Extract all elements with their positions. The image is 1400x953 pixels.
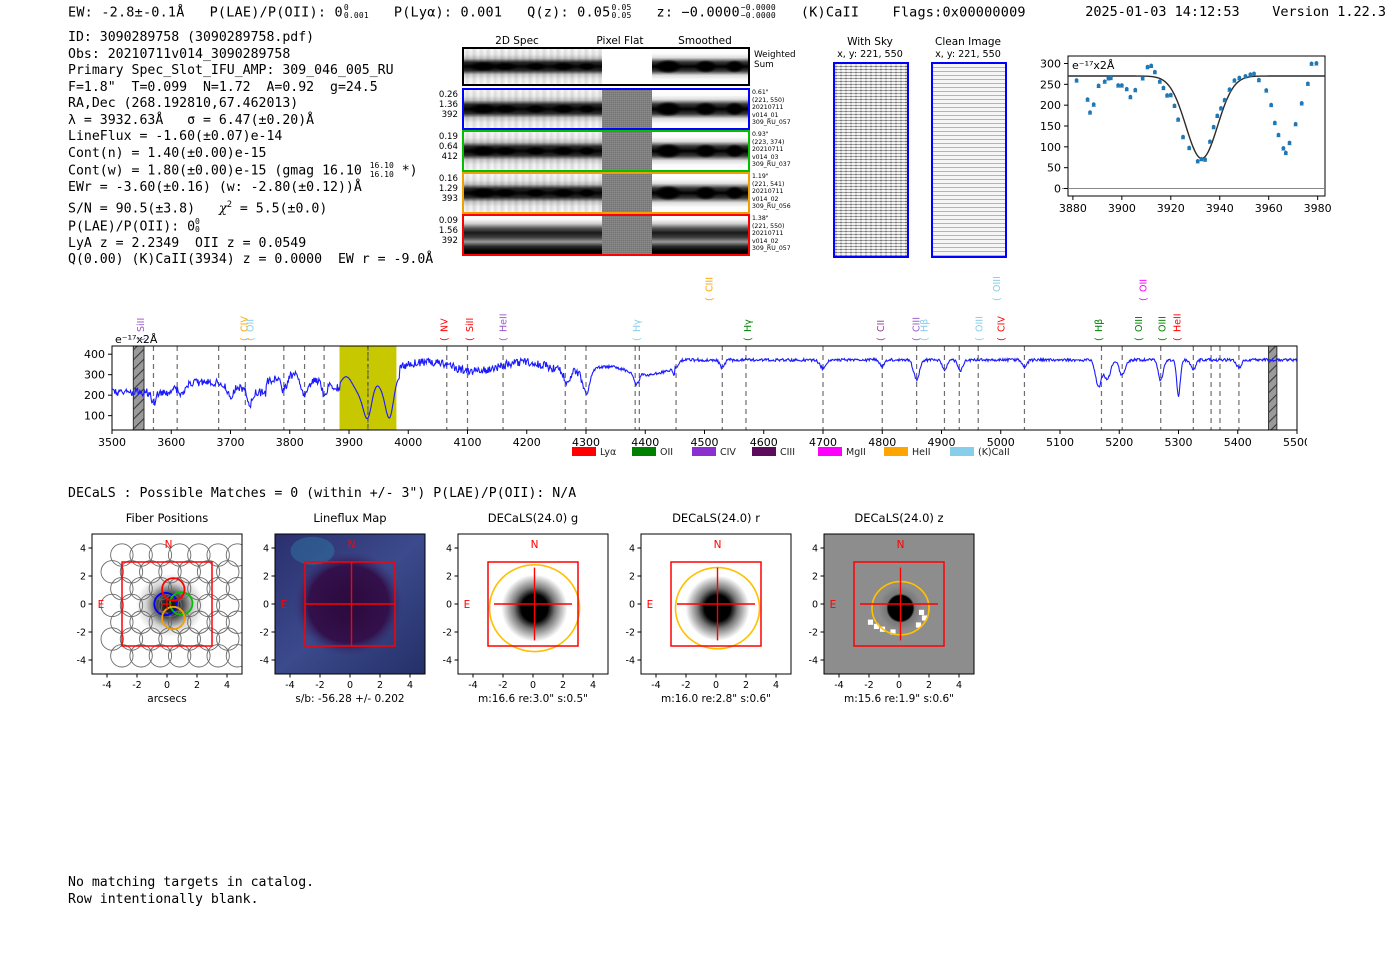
info-plae-poii: P(LAE)/P(OII): 000 <box>68 218 433 236</box>
svg-text:-2: -2 <box>443 628 452 639</box>
decals-r-svg: DECaLS(24.0) rNE-4-4-2-2002244m:16.0 re:… <box>609 508 792 708</box>
svg-text:3600: 3600 <box>157 436 185 449</box>
svg-text:(: ( <box>1172 337 1183 341</box>
svg-text:-2: -2 <box>315 680 324 691</box>
svg-text:0: 0 <box>80 600 86 611</box>
svg-text:(: ( <box>1158 337 1169 341</box>
svg-text:CIII: CIII <box>780 447 795 458</box>
qz-label: Q(z): <box>527 4 569 20</box>
full-spectrum-plot: 1002003004003500360037003800390040004100… <box>62 272 1307 484</box>
svg-text:-4: -4 <box>651 680 660 691</box>
svg-text:0: 0 <box>812 600 818 611</box>
svg-text:(: ( <box>996 337 1007 341</box>
line-identification: (K)CaII <box>801 4 859 20</box>
svg-text:0: 0 <box>1054 183 1061 196</box>
svg-text:SiII: SiII <box>465 318 476 332</box>
z-value: −0.0000 <box>681 4 739 20</box>
decals-r-panel: DECaLS(24.0) rNE-4-4-2-2002244m:16.0 re:… <box>609 508 792 708</box>
svg-text:5500: 5500 <box>1283 436 1307 449</box>
fiber-row-4-smoothed-image <box>652 216 748 254</box>
decals-g-xlabel: m:16.6 re:3.0" s:0.5" <box>478 693 588 705</box>
svg-text:-4: -4 <box>834 680 843 691</box>
svg-text:-4: -4 <box>77 656 86 667</box>
with-sky-title: With Sky <box>815 36 925 48</box>
info-radec: RA,Dec (268.192810,67.462013) <box>68 96 433 113</box>
svg-text:4: 4 <box>956 680 962 691</box>
svg-text:-2: -2 <box>681 680 690 691</box>
weighted-sum-label: Weighted Sum <box>754 50 796 70</box>
info-observing-params: F=1.8" T=0.099 N=1.72 A=0.92 g=24.5 <box>68 80 433 97</box>
svg-text:4100: 4100 <box>454 436 482 449</box>
svg-text:5300: 5300 <box>1165 436 1193 449</box>
fiber-row-3-identifiers: 1.19"(221, 541)20210711v014_02309_RU_056 <box>752 173 796 211</box>
svg-text:MgII: MgII <box>846 447 866 458</box>
svg-text:-4: -4 <box>102 680 111 691</box>
fiber-row-1-2dspec-image <box>464 90 602 128</box>
lineflux-map-panel: Lineflux MapNE-4-4-2-2002244s/b: -56.28 … <box>243 508 426 708</box>
weighted-sum-2dspec-image <box>464 49 602 84</box>
svg-text:-4: -4 <box>809 656 818 667</box>
decals-summary-line: DECaLS : Possible Matches = 0 (within +/… <box>68 486 576 501</box>
fiber-row-1-pixelflat-image <box>602 90 652 128</box>
decals-z-xlabel: m:15.6 re:1.9" s:0.6" <box>844 693 954 705</box>
svg-text:Hγ: Hγ <box>743 319 754 332</box>
compass-north-label: N <box>714 539 722 551</box>
svg-text:3500: 3500 <box>98 436 126 449</box>
svg-text:2: 2 <box>560 680 566 691</box>
fiber-positions-svg: Fiber PositionsNE-4-4-2-2002244arcsecs <box>60 508 243 708</box>
info-continuum-narrow: Cont(n) = 1.40(±0.00)e-15 <box>68 146 433 163</box>
info-quality-flag: Q(0.00) (K)CaII(3934) z = 0.0000 EW r = … <box>68 252 433 269</box>
fiber-positions-xlabel: arcsecs <box>147 693 186 705</box>
info-continuum-wide: Cont(w) = 1.80(±0.00)e-15 (gmag 16.10 16… <box>68 162 433 180</box>
ew-label: EW: <box>68 4 93 20</box>
info-lineflux: LineFlux = -1.60(±0.07)e-14 <box>68 129 433 146</box>
svg-text:4: 4 <box>812 544 818 555</box>
svg-text:CIV: CIV <box>996 316 1007 332</box>
qz-value: 0.05 <box>577 4 610 20</box>
fiber-row-3-metrics: 0.161.29393 <box>424 174 458 205</box>
svg-text:OII: OII <box>1139 279 1150 292</box>
fiber-row-4-panel <box>462 214 750 256</box>
svg-text:2: 2 <box>446 572 452 583</box>
compass-east-label: E <box>464 599 471 611</box>
svg-text:3700: 3700 <box>217 436 245 449</box>
svg-text:(K)CaII: (K)CaII <box>978 447 1010 458</box>
ew-value: -2.8±-0.1Å <box>101 4 184 20</box>
lineflux-map-xlabel: s/b: -56.28 +/- 0.202 <box>295 693 404 705</box>
z-range: −0.0000−0.0000 <box>741 4 776 21</box>
fiber-row-4-2dspec-image <box>464 216 602 254</box>
info-obs: Obs: 20210711v014_3090289758 <box>68 47 433 64</box>
compass-north-label: N <box>348 539 356 551</box>
svg-text:3980: 3980 <box>1304 202 1332 215</box>
svg-text:5400: 5400 <box>1224 436 1252 449</box>
with-sky-image <box>833 62 909 258</box>
fiber-row-3-pixelflat-image <box>602 174 652 212</box>
svg-text:(: ( <box>465 337 476 341</box>
svg-text:4200: 4200 <box>513 436 541 449</box>
fiber-row-3-smoothed-image <box>652 174 748 212</box>
plae-poii-value: 0 <box>335 4 343 20</box>
svg-text:250: 250 <box>1040 78 1061 91</box>
timestamp: 2025-01-03 14:12:53 <box>1085 4 1239 20</box>
svg-text:2: 2 <box>812 572 818 583</box>
fiber-row-1-metrics: 0.261.36392 <box>424 90 458 121</box>
clean-image-title: Clean Image <box>913 36 1023 48</box>
svg-text:(: ( <box>439 337 450 341</box>
decals-g-title: DECaLS(24.0) g <box>488 511 578 525</box>
plya-label: P(Lyα): <box>394 4 452 20</box>
fiber-row-4-pixelflat-image <box>602 216 652 254</box>
info-wavelength-sigma: λ = 3932.63Å σ = 6.47(±0.20)Å <box>68 113 433 130</box>
svg-text:2: 2 <box>926 680 932 691</box>
info-id: ID: 3090289758 (3090289758.pdf) <box>68 30 433 47</box>
column-title-smoothed: Smoothed <box>655 35 755 47</box>
svg-text:NV: NV <box>439 318 450 332</box>
svg-text:3920: 3920 <box>1157 202 1185 215</box>
fiber-row-3-2dspec-image <box>464 174 602 212</box>
svg-text:CIV: CIV <box>720 447 736 458</box>
fiber-row-4-identifiers: 1.38"(221, 550)20210711v014_02309_RU_057 <box>752 215 796 253</box>
svg-text:2: 2 <box>629 572 635 583</box>
svg-text:0: 0 <box>263 600 269 611</box>
svg-text:-2: -2 <box>260 628 269 639</box>
full-spectrum-svg: 1002003004003500360037003800390040004100… <box>62 272 1307 484</box>
fiber-row-2-smoothed-image <box>652 132 748 170</box>
line-fit-plot: 0501001502002503003880390039203940396039… <box>1028 38 1333 226</box>
svg-text:OIII: OIII <box>992 276 1003 292</box>
svg-text:OII: OII <box>660 447 673 458</box>
info-redshifts: LyA z = 2.2349 OII z = 0.0549 <box>68 236 433 253</box>
svg-text:200: 200 <box>84 389 105 402</box>
svg-text:3800: 3800 <box>276 436 304 449</box>
svg-text:2: 2 <box>80 572 86 583</box>
svg-text:OIII: OIII <box>1158 316 1169 332</box>
fiber-positions-title: Fiber Positions <box>126 511 209 525</box>
svg-text:-4: -4 <box>626 656 635 667</box>
weighted-sum-pixelflat-image <box>602 49 652 84</box>
svg-text:3900: 3900 <box>1108 202 1136 215</box>
svg-text:2: 2 <box>743 680 749 691</box>
svg-text:(: ( <box>704 297 715 301</box>
info-plae-range: 00 <box>195 218 200 235</box>
svg-text:SiII: SiII <box>136 318 147 332</box>
svg-text:4: 4 <box>407 680 413 691</box>
svg-text:Hβ: Hβ <box>919 319 930 332</box>
svg-text:e⁻¹⁷x2Å: e⁻¹⁷x2Å <box>1072 59 1115 72</box>
svg-text:5200: 5200 <box>1105 436 1133 449</box>
compass-north-label: N <box>165 539 173 551</box>
svg-text:-4: -4 <box>443 656 452 667</box>
bottom-note: No matching targets in catalog. Row inte… <box>68 874 314 908</box>
svg-text:4: 4 <box>263 544 269 555</box>
svg-text:(: ( <box>876 337 887 341</box>
svg-text:3900: 3900 <box>335 436 363 449</box>
svg-text:-2: -2 <box>498 680 507 691</box>
svg-text:300: 300 <box>1040 58 1061 71</box>
svg-text:HeII: HeII <box>912 447 931 458</box>
svg-text:-2: -2 <box>132 680 141 691</box>
decals-r-xlabel: m:16.0 re:2.8" s:0.6" <box>661 693 771 705</box>
svg-text:CII: CII <box>876 320 887 332</box>
line-fit-svg: 0501001502002503003880390039203940396039… <box>1028 38 1333 226</box>
plya-value: 0.001 <box>461 4 503 20</box>
info-signal-to-noise: S/N = 90.5(±3.8) χ2 = 5.5(±0.0) <box>68 197 433 218</box>
svg-text:400: 400 <box>84 348 105 361</box>
clean-image-coords: x, y: 221, 550 <box>913 49 1023 60</box>
svg-text:CIII: CIII <box>704 277 715 292</box>
svg-text:(: ( <box>136 337 147 341</box>
svg-text:-2: -2 <box>809 628 818 639</box>
header-summary-line: EW: -2.8±-0.1Å P(LAE)/P(OII): 000.001 P(… <box>68 4 1026 21</box>
compass-east-label: E <box>830 599 837 611</box>
svg-text:0: 0 <box>896 680 902 691</box>
svg-text:4: 4 <box>80 544 86 555</box>
fiber-row-1-smoothed-image <box>652 90 748 128</box>
fiber-row-3-panel <box>462 172 750 214</box>
info-equivalent-width-rest: EWr = -3.60(±0.16) (w: -2.80(±0.12))Å <box>68 180 433 197</box>
svg-text:4: 4 <box>590 680 596 691</box>
compass-east-label: E <box>647 599 654 611</box>
decals-g-svg: DECaLS(24.0) gNE-4-4-2-2002244m:16.6 re:… <box>426 508 609 708</box>
svg-text:(: ( <box>246 337 257 341</box>
compass-north-label: N <box>531 539 539 551</box>
decals-z-title: DECaLS(24.0) z <box>854 511 943 525</box>
svg-text:150: 150 <box>1040 120 1061 133</box>
svg-text:0: 0 <box>713 680 719 691</box>
plae-poii-label: P(LAE)/P(OII): <box>210 4 327 20</box>
svg-text:4: 4 <box>224 680 230 691</box>
svg-text:200: 200 <box>1040 99 1061 112</box>
decals-g-panel: DECaLS(24.0) gNE-4-4-2-2002244m:16.6 re:… <box>426 508 609 708</box>
svg-text:0: 0 <box>446 600 452 611</box>
svg-text:-2: -2 <box>864 680 873 691</box>
svg-text:(: ( <box>1139 297 1150 301</box>
svg-text:3880: 3880 <box>1059 202 1087 215</box>
column-title-2dspec: 2D Spec <box>462 35 572 47</box>
clean-image <box>931 62 1007 258</box>
svg-text:Lyα: Lyα <box>600 447 616 458</box>
flags-value: Flags:0x00000009 <box>893 4 1026 20</box>
bottom-note-line-2: Row intentionally blank. <box>68 891 314 908</box>
svg-text:OIII: OIII <box>1134 316 1145 332</box>
lineflux-map-title: Lineflux Map <box>313 511 386 525</box>
svg-text:(: ( <box>992 297 1003 301</box>
svg-text:0: 0 <box>347 680 353 691</box>
fiber-row-1-identifiers: 0.61"(221, 550)20210711v014_01309_RU_057 <box>752 89 796 127</box>
decals-z-svg: DECaLS(24.0) zNE-4-4-2-2002244m:15.6 re:… <box>792 508 975 708</box>
compass-east-label: E <box>98 599 105 611</box>
svg-text:4: 4 <box>446 544 452 555</box>
svg-text:0: 0 <box>164 680 170 691</box>
svg-text:(: ( <box>499 337 510 341</box>
info-primary-spec-slot: Primary Spec_Slot_IFU_AMP: 309_046_005_R… <box>68 63 433 80</box>
compass-east-label: E <box>281 599 288 611</box>
svg-text:(: ( <box>632 337 643 341</box>
fiber-row-2-metrics: 0.190.64412 <box>424 132 458 163</box>
svg-text:2: 2 <box>263 572 269 583</box>
lineflux-map-svg: Lineflux MapNE-4-4-2-2002244s/b: -56.28 … <box>243 508 426 708</box>
svg-text:100: 100 <box>1040 141 1061 154</box>
decals-r-title: DECaLS(24.0) r <box>672 511 760 525</box>
fiber-row-1-panel <box>462 88 750 130</box>
svg-text:HeII: HeII <box>1172 313 1183 332</box>
svg-text:4: 4 <box>773 680 779 691</box>
svg-text:(: ( <box>1094 337 1105 341</box>
weighted-sum-smoothed-image <box>652 49 748 84</box>
svg-text:-4: -4 <box>468 680 477 691</box>
fiber-row-2-identifiers: 0.93"(223, 374)20210711v014_03309_RU_037 <box>752 131 796 169</box>
svg-text:2: 2 <box>194 680 200 691</box>
svg-text:4000: 4000 <box>394 436 422 449</box>
detection-info-block: ID: 3090289758 (3090289758.pdf) Obs: 202… <box>68 30 433 269</box>
svg-text:HeII: HeII <box>499 313 510 332</box>
fiber-row-2-panel <box>462 130 750 172</box>
svg-text:3940: 3940 <box>1206 202 1234 215</box>
svg-text:(: ( <box>743 337 754 341</box>
plae-poii-range: 00.001 <box>344 4 369 21</box>
with-sky-coords: x, y: 221, 550 <box>815 49 925 60</box>
svg-text:-2: -2 <box>626 628 635 639</box>
gmag-range: 16.1016.10 <box>370 162 394 179</box>
fiber-positions-panel: Fiber PositionsNE-4-4-2-2002244arcsecs <box>60 508 243 708</box>
svg-text:(: ( <box>974 337 985 341</box>
svg-text:OIII: OIII <box>974 316 985 332</box>
svg-text:0: 0 <box>629 600 635 611</box>
fiber-row-2-pixelflat-image <box>602 132 652 170</box>
svg-text:(: ( <box>919 337 930 341</box>
qz-range: 0.050.05 <box>611 4 631 21</box>
svg-text:5100: 5100 <box>1046 436 1074 449</box>
svg-text:-2: -2 <box>77 628 86 639</box>
version-label: Version 1.22.3 <box>1272 4 1386 20</box>
svg-text:300: 300 <box>84 369 105 382</box>
compass-north-label: N <box>897 539 905 551</box>
decals-z-panel: DECaLS(24.0) zNE-4-4-2-2002244m:15.6 re:… <box>792 508 975 708</box>
svg-text:OII: OII <box>246 319 257 332</box>
bottom-note-line-1: No matching targets in catalog. <box>68 874 314 891</box>
header-timestamp-version: 2025-01-03 14:12:53 Version 1.22.3 <box>1085 4 1386 20</box>
svg-text:-4: -4 <box>285 680 294 691</box>
svg-text:50: 50 <box>1047 162 1061 175</box>
z-label: z: <box>657 4 674 20</box>
svg-text:0: 0 <box>530 680 536 691</box>
svg-text:Hβ: Hβ <box>1094 319 1105 332</box>
weighted-sum-panel <box>462 47 750 86</box>
svg-text:2: 2 <box>377 680 383 691</box>
svg-text:(: ( <box>1134 337 1145 341</box>
svg-text:4: 4 <box>629 544 635 555</box>
fiber-row-2-2dspec-image <box>464 132 602 170</box>
svg-text:-4: -4 <box>260 656 269 667</box>
svg-text:3960: 3960 <box>1255 202 1283 215</box>
fiber-row-4-metrics: 0.091.56392 <box>424 216 458 247</box>
svg-text:Hγ: Hγ <box>632 319 643 332</box>
svg-text:100: 100 <box>84 410 105 423</box>
